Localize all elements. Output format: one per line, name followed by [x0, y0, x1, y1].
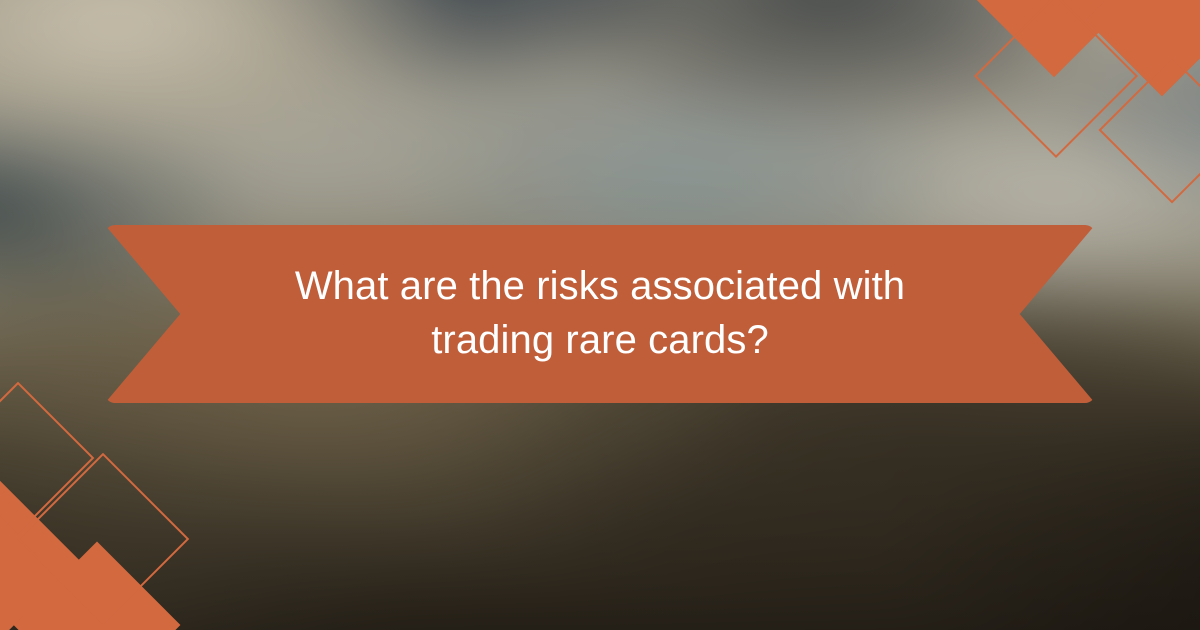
share-card: What are the risks associated with tradi…	[0, 0, 1200, 630]
ribbon-banner: What are the risks associated with tradi…	[105, 225, 1095, 403]
page-title: What are the risks associated with tradi…	[205, 260, 995, 367]
